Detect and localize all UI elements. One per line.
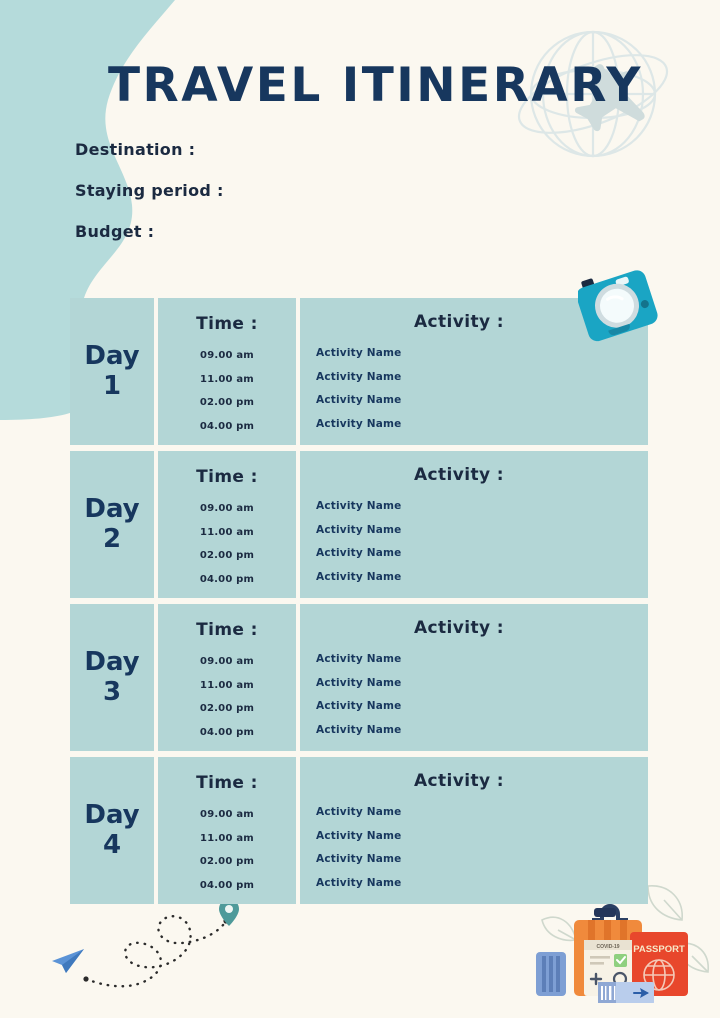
activity-value[interactable]: Activity Name [300,413,648,437]
time-value[interactable]: 04.00 pm [200,568,254,592]
table-row[interactable]: Day 4 Time : 09.00 am 11.00 am 02.00 pm … [70,757,648,904]
time-value[interactable]: 09.00 am [200,650,254,674]
time-value[interactable]: 02.00 pm [200,697,254,721]
passport-label: PASSPORT [633,944,685,955]
day-label-cell: Day 4 [70,757,154,904]
time-column: Time : 09.00 am 11.00 am 02.00 pm 04.00 … [158,451,296,598]
itinerary-page: TRAVEL ITINERARY Destination : Staying p… [0,0,720,1018]
activity-value[interactable]: Activity Name [300,825,648,849]
activity-header: Activity : [300,465,648,485]
time-value[interactable]: 04.00 pm [200,874,254,898]
activity-value[interactable]: Activity Name [300,495,648,519]
field-destination[interactable]: Destination : [75,140,224,159]
day-word: Day [84,801,139,831]
field-staying-period[interactable]: Staying period : [75,181,224,200]
table-row[interactable]: Day 3 Time : 09.00 am 11.00 am 02.00 pm … [70,604,648,751]
activity-header: Activity : [300,618,648,638]
time-value[interactable]: 09.00 am [200,497,254,521]
day-number: 1 [103,372,121,402]
day-label-cell: Day 3 [70,604,154,751]
time-value[interactable]: 02.00 pm [200,391,254,415]
activity-value[interactable]: Activity Name [300,801,648,825]
activity-value[interactable]: Activity Name [300,519,648,543]
time-value[interactable]: 04.00 pm [200,415,254,439]
day-number: 3 [103,678,121,708]
time-column: Time : 09.00 am 11.00 am 02.00 pm 04.00 … [158,298,296,445]
activity-value[interactable]: Activity Name [300,848,648,872]
time-value[interactable]: 09.00 am [200,803,254,827]
activity-value[interactable]: Activity Name [300,389,648,413]
time-value[interactable]: 11.00 am [200,368,254,392]
field-budget[interactable]: Budget : [75,222,224,241]
day-word: Day [84,648,139,678]
time-column: Time : 09.00 am 11.00 am 02.00 pm 04.00 … [158,604,296,751]
activity-value[interactable]: Activity Name [300,672,648,696]
activity-value[interactable]: Activity Name [300,695,648,719]
time-value[interactable]: 11.00 am [200,674,254,698]
time-column: Time : 09.00 am 11.00 am 02.00 pm 04.00 … [158,757,296,904]
time-header: Time : [196,620,258,640]
table-row[interactable]: Day 1 Time : 09.00 am 11.00 am 02.00 pm … [70,298,648,445]
time-value[interactable]: 02.00 pm [200,850,254,874]
activity-value[interactable]: Activity Name [300,542,648,566]
day-number: 4 [103,831,121,861]
time-value[interactable]: 11.00 am [200,827,254,851]
time-value[interactable]: 04.00 pm [200,721,254,745]
page-title: TRAVEL ITINERARY [108,58,643,113]
activity-value[interactable]: Activity Name [300,719,648,743]
day-label-cell: Day 2 [70,451,154,598]
activity-value[interactable]: Activity Name [300,648,648,672]
activity-value[interactable]: Activity Name [300,872,648,896]
activity-value[interactable]: Activity Name [300,366,648,390]
day-label-cell: Day 1 [70,298,154,445]
time-header: Time : [196,314,258,334]
day-number: 2 [103,525,121,555]
table-row[interactable]: Day 2 Time : 09.00 am 11.00 am 02.00 pm … [70,451,648,598]
covid-label: COVID-19 [596,944,619,950]
activity-header: Activity : [300,771,648,791]
camera-icon [578,262,668,354]
time-value[interactable]: 09.00 am [200,344,254,368]
time-header: Time : [196,467,258,487]
time-value[interactable]: 11.00 am [200,521,254,545]
day-word: Day [84,342,139,372]
itinerary-table: Day 1 Time : 09.00 am 11.00 am 02.00 pm … [70,298,648,910]
day-word: Day [84,495,139,525]
time-value[interactable]: 02.00 pm [200,544,254,568]
activity-column: Activity : Activity Name Activity Name A… [300,451,648,598]
activity-column: Activity : Activity Name Activity Name A… [300,604,648,751]
activity-value[interactable]: Activity Name [300,566,648,590]
time-header: Time : [196,773,258,793]
form-fields: Destination : Staying period : Budget : [75,140,224,263]
activity-column: Activity : Activity Name Activity Name A… [300,757,648,904]
